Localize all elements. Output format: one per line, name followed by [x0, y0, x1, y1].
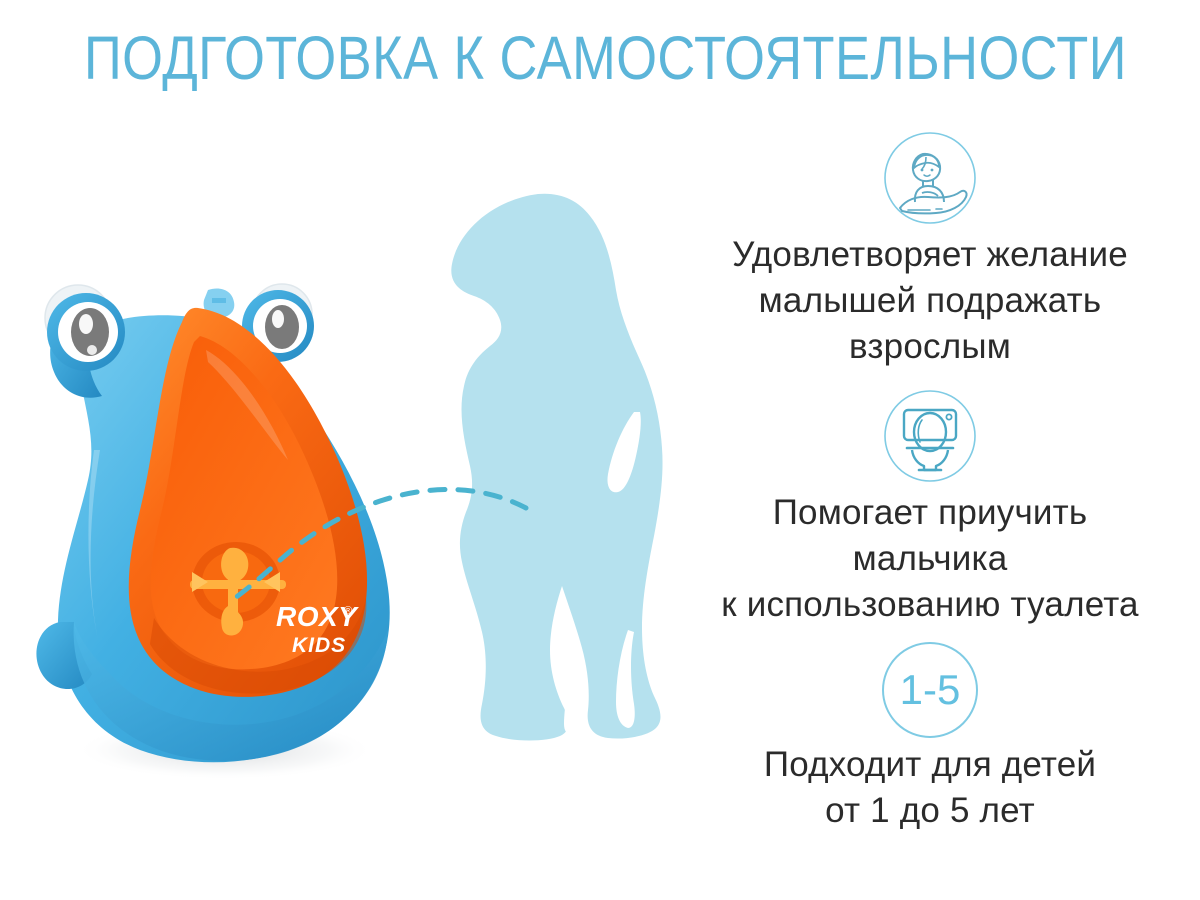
feature-text-3: Подходит для детей от 1 до 5 лет [660, 742, 1200, 834]
brand-subname: KIDS [292, 634, 346, 657]
page-title: ПОДГОТОВКА К САМОСТОЯТЕЛЬНОСТИ [84, 22, 1116, 94]
feature-item-3: 1-5 Подходит для детей от 1 до 5 лет [660, 642, 1200, 834]
brand-trademark: ® [344, 605, 352, 617]
silhouette-leg-gap [564, 666, 582, 735]
child-in-hand-icon [882, 130, 978, 226]
feature-item-2: Помогает приучить мальчика к использован… [660, 388, 1200, 628]
product-illustration: ROXY ® KIDS [30, 270, 430, 790]
infographic-page: ПОДГОТОВКА К САМОСТОЯТЕЛЬНОСТИ [0, 0, 1200, 900]
feature-text-1: Удовлетворяет желание малышей подражать … [660, 232, 1200, 370]
frog-eye-left [47, 293, 125, 371]
feature-text-2: Помогает приучить мальчика к использован… [660, 490, 1200, 628]
age-range-label: 1-5 [900, 669, 961, 711]
frog-top-tab-slot [212, 298, 226, 303]
age-range-badge: 1-5 [882, 642, 978, 738]
feature-list: Удовлетворяет желание малышей подражать … [660, 130, 1200, 834]
toilet-icon [882, 388, 978, 484]
feature-item-1: Удовлетворяет желание малышей подражать … [660, 130, 1200, 370]
